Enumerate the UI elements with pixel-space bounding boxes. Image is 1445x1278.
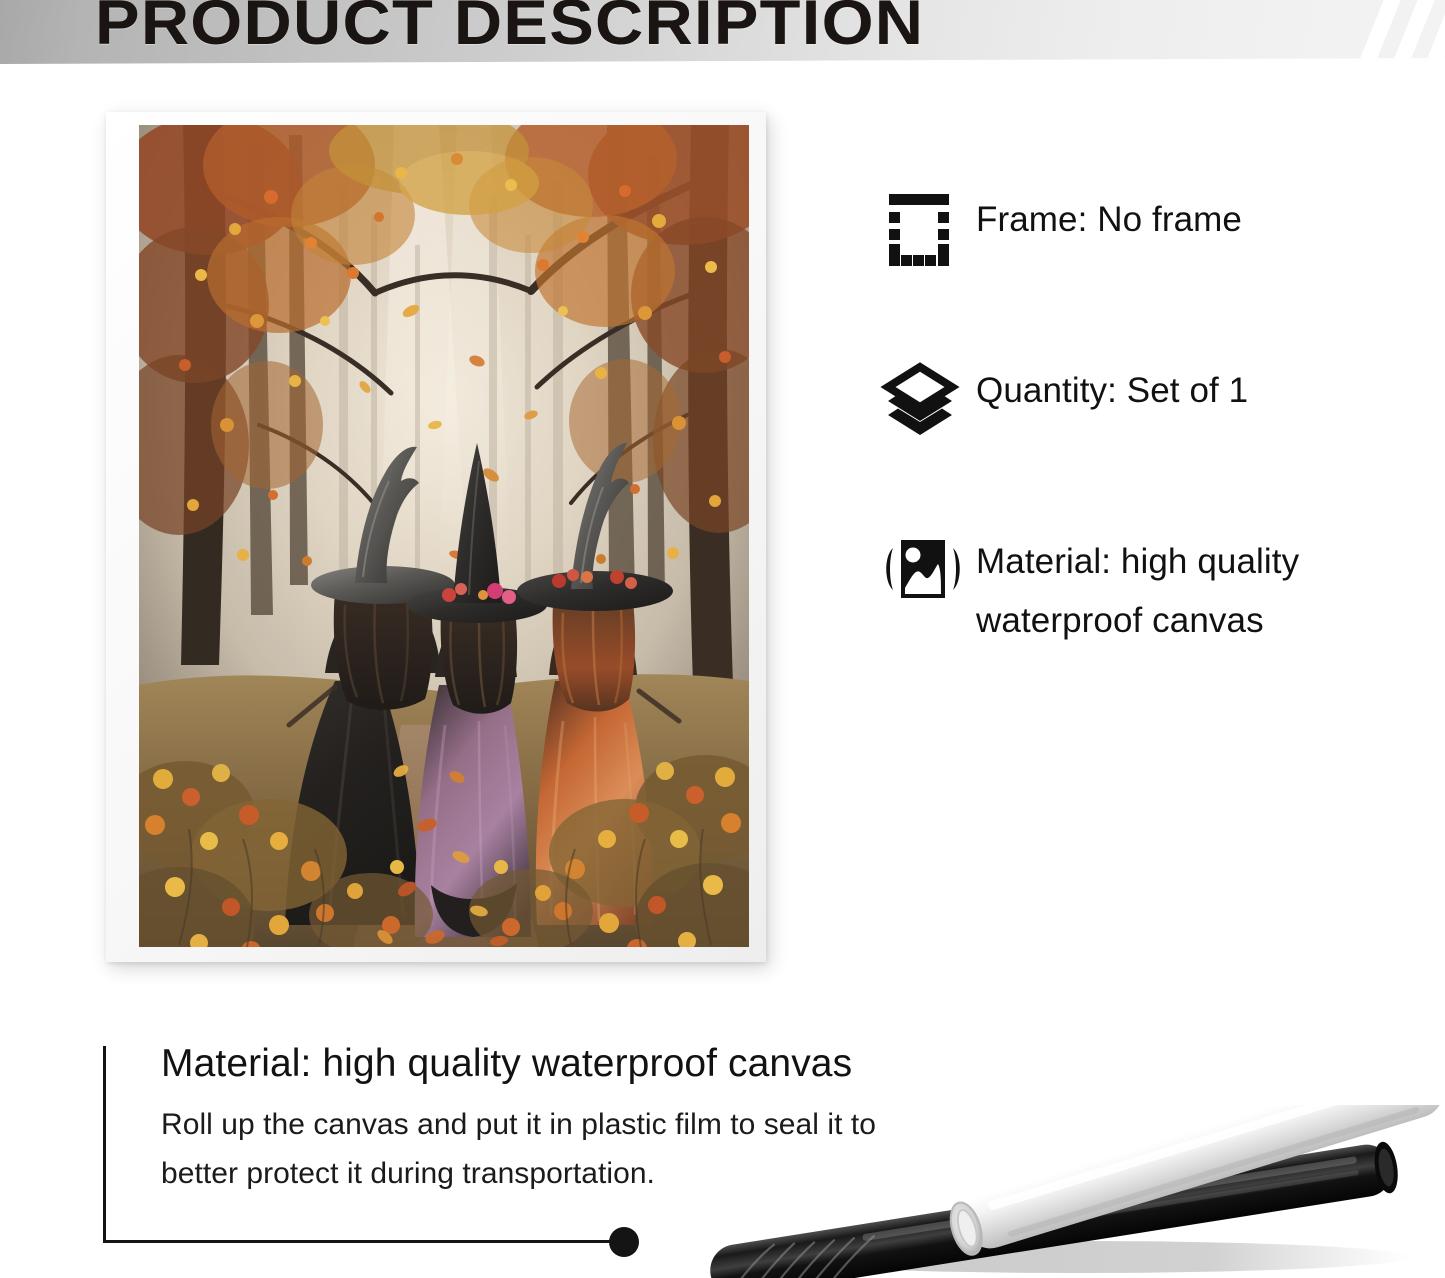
frame-icon: [880, 186, 976, 266]
layers-stack-icon: [880, 357, 976, 437]
spec-label-quantity: Quantity: Set of 1: [976, 357, 1248, 420]
material-note-heading: Material: high quality waterproof canvas: [161, 1042, 852, 1086]
artwork-image: [139, 125, 749, 947]
bracket-end-dot: [609, 1227, 639, 1257]
spec-row-quantity: Quantity: Set of 1: [880, 357, 1400, 437]
product-canvas-frame: [106, 112, 766, 962]
picture-image-icon: [880, 528, 976, 608]
spec-label-material: Material: high quality waterproof canvas: [976, 528, 1400, 650]
rolled-canvas-photo: [660, 1105, 1445, 1278]
spec-list: Frame: No frame Quantity: Set of 1: [880, 186, 1400, 741]
page-title: PRODUCT DESCRIPTION: [95, 0, 924, 55]
spec-row-frame: Frame: No frame: [880, 186, 1400, 266]
spec-row-material: Material: high quality waterproof canvas: [880, 528, 1400, 650]
spec-label-frame: Frame: No frame: [976, 186, 1242, 249]
